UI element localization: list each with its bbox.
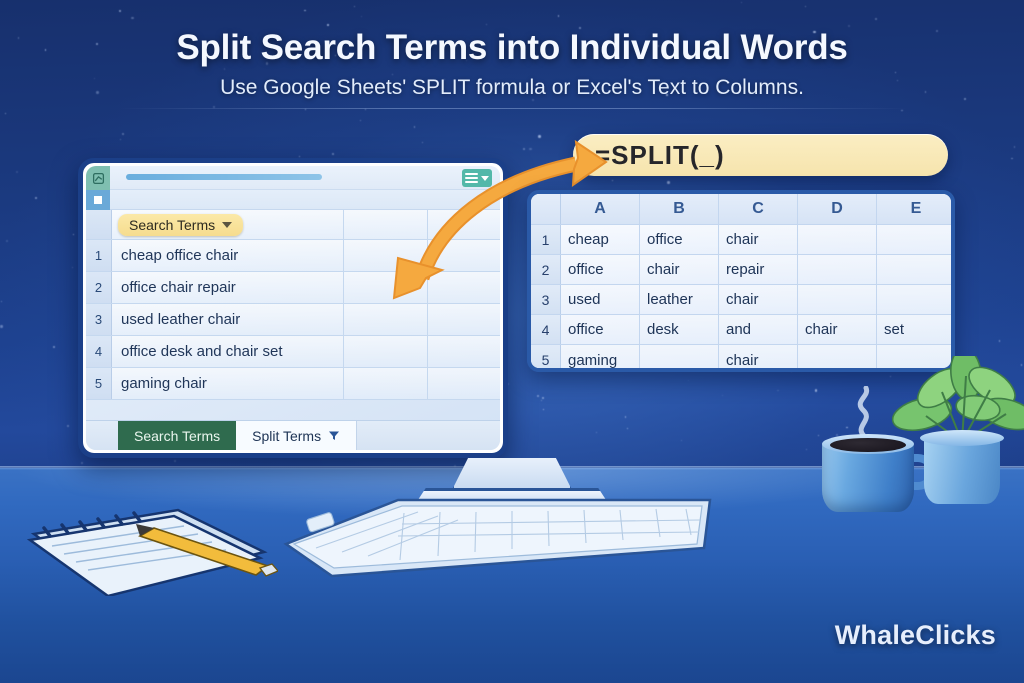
filter-icon[interactable] [328,430,340,442]
cell-empty[interactable] [428,304,500,335]
cell-d[interactable] [798,345,877,372]
cell-b[interactable]: desk [640,315,719,344]
cell-empty[interactable] [428,368,500,399]
table-row[interactable]: 4 office desk and chair set [86,336,500,368]
cell-d[interactable] [798,285,877,314]
cell-c[interactable]: repair [719,255,798,284]
column-header-d[interactable]: D [798,194,877,224]
cell-e[interactable]: set [877,315,955,344]
cell-a[interactable]: office [561,315,640,344]
column-header-c[interactable]: C [719,194,798,224]
formula-badge: =SPLIT(_) [573,134,948,176]
row-gutter [86,210,112,239]
row-number: 5 [531,345,561,372]
row-number: 2 [531,255,561,284]
row-number: 1 [86,240,112,271]
cell-search-term[interactable]: used leather chair [112,304,344,335]
page-subtitle: Use Google Sheets' SPLIT formula or Exce… [0,76,1024,100]
select-all-icon[interactable] [86,190,110,210]
monitor-stand-neck [451,458,573,492]
cell-search-term[interactable]: office chair repair [112,272,344,303]
keyboard-icon[interactable] [272,492,712,578]
cell-e[interactable] [877,285,955,314]
cell-e[interactable] [877,225,955,254]
row-number: 4 [531,315,561,344]
page-title: Split Search Terms into Individual Words [0,28,1024,68]
cell-c[interactable]: chair [719,225,798,254]
cell-search-term[interactable]: office desk and chair set [112,336,344,367]
pencil-icon [128,520,278,580]
cell-b[interactable]: leather [640,285,719,314]
cell-c[interactable]: chair [719,285,798,314]
row-number: 3 [531,285,561,314]
header-divider [118,108,908,109]
row-number: 2 [86,272,112,303]
column-header-a[interactable]: A [561,194,640,224]
column-header-e[interactable]: E [877,194,955,224]
cell-a[interactable]: used [561,285,640,314]
column-header-b[interactable]: B [640,194,719,224]
sheet-tab-search-terms[interactable]: Search Terms [118,421,236,450]
header-cell-search-terms[interactable]: Search Terms [112,210,344,239]
plant-pot [924,436,1000,504]
cell-d[interactable]: chair [798,315,877,344]
row-number: 3 [86,304,112,335]
table-row[interactable]: 2 office chair repair [531,255,951,285]
cell-empty[interactable] [344,304,428,335]
cell-c[interactable]: and [719,315,798,344]
cell-a[interactable]: gaming [561,345,640,372]
row-number: 5 [86,368,112,399]
row-number: 1 [531,225,561,254]
table-row[interactable]: 3 used leather chair [531,285,951,315]
cell-b[interactable]: chair [640,255,719,284]
cell-c[interactable]: chair [719,345,798,372]
table-row[interactable]: 1 cheap office chair [531,225,951,255]
cell-search-term[interactable]: gaming chair [112,368,344,399]
cell-e[interactable] [877,255,955,284]
cell-search-term[interactable]: cheap office chair [112,240,344,271]
sheet-tab-bar: Search Terms Split Terms [86,420,500,450]
chevron-down-icon[interactable] [222,222,232,228]
steam-icon [846,386,886,438]
formula-bar[interactable] [126,174,322,180]
sheets-logo-icon [86,166,110,190]
cell-d[interactable] [798,255,877,284]
sheet-tab-split-terms[interactable]: Split Terms [236,421,357,450]
sheet-tab-label: Search Terms [134,428,220,444]
cell-empty[interactable] [428,336,500,367]
brand-logo: WhaleClicks [835,620,996,651]
row-number: 4 [86,336,112,367]
cell-empty[interactable] [344,368,428,399]
cell-a[interactable]: cheap [561,225,640,254]
table-row[interactable]: 5 gaming chair [86,368,500,400]
table-row[interactable]: 5 gaming chair [531,345,951,372]
cell-b[interactable]: office [640,225,719,254]
corner-cell [531,194,561,224]
table-row[interactable]: 3 used leather chair [86,304,500,336]
plant-pot-rim [920,430,1004,446]
cell-empty[interactable] [344,336,428,367]
cell-b[interactable] [640,345,719,372]
cell-a[interactable]: office [561,255,640,284]
column-header-row: A B C D E E [531,194,951,225]
search-terms-header-pill[interactable]: Search Terms [118,214,243,236]
poster-scene: Split Search Terms into Individual Words… [0,0,1024,683]
header-pill-label: Search Terms [129,217,215,233]
sheet-tab-label: Split Terms [252,428,321,444]
split-results-spreadsheet: A B C D E E 1 cheap office chair 2 offic… [527,190,955,372]
cell-d[interactable] [798,225,877,254]
table-row[interactable]: 4 office desk and chair set [531,315,951,345]
